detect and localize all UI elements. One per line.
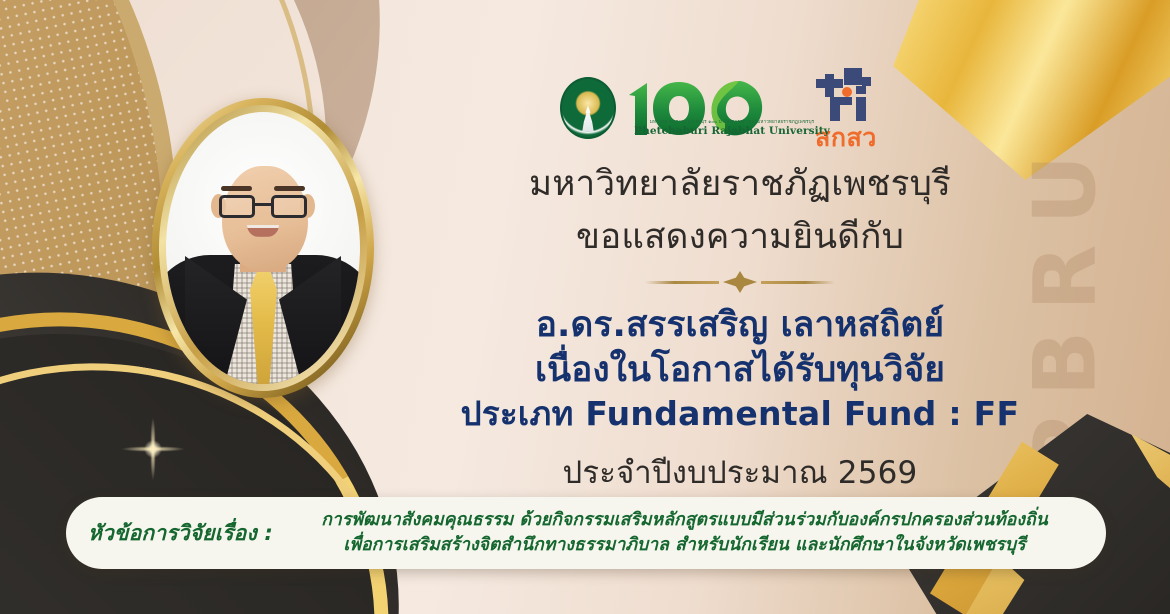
portrait-lens-left xyxy=(219,195,255,218)
research-topic-line-2: เพื่อการเสริมสร้างจิตสำนึกทางธรรมาภิบาล … xyxy=(289,533,1080,558)
research-topic-label: หัวข้อการวิจัยเรื่อง : xyxy=(88,517,273,550)
research-topic-text: การพัฒนาสังคมคุณธรรม ด้วยกิจกรรมเสริมหลั… xyxy=(289,508,1080,558)
sparkle-icon xyxy=(108,404,198,494)
divider-line-right xyxy=(761,281,835,284)
university-caption: มหาวิทยาลัยราชภัฏเพชรบุรี ๑๐๐ ปี แห่งการ… xyxy=(632,120,832,137)
fiscal-year: ประจำปีงบประมาณ 2569 xyxy=(420,447,1060,497)
university-centennial-logo: มหาวิทยาลัยราชภัฏเพชรบุรี ๑๐๐ ปี แห่งการ… xyxy=(560,77,771,139)
message-block: มหาวิทยาลัยราชภัฏเพชรบุรี ขอแสดงความยินด… xyxy=(420,158,1060,497)
university-english-caption: Phetchaburi Rajabhat University xyxy=(632,125,832,137)
tsri-mark-icon xyxy=(813,66,879,124)
portrait-photo xyxy=(166,112,360,384)
portrait-brow-right xyxy=(274,186,305,191)
top-right-gold-ribbon-back xyxy=(930,0,1170,140)
university-heading: มหาวิทยาลัยราชภัฏเพชรบุรี xyxy=(420,158,1060,211)
divider-diamond-icon xyxy=(723,271,757,293)
portrait-brow-left xyxy=(221,186,252,191)
research-topic-line-1: การพัฒนาสังคมคุณธรรม ด้วยกิจกรรมเสริมหลั… xyxy=(289,508,1080,533)
honoree-name: อ.ดร.สรรเสริญ เลาหสถิตย์ xyxy=(420,303,1060,348)
congratulations-banner: PBRU xyxy=(0,0,1170,614)
logo-row: มหาวิทยาลัยราชภัฏเพชรบุรี ๑๐๐ ปี แห่งการ… xyxy=(560,60,920,156)
tsri-logo: สกสว xyxy=(813,66,879,150)
university-seal-icon xyxy=(560,77,616,139)
honoree-portrait xyxy=(152,98,374,398)
research-topic-banner: หัวข้อการวิจัยเรื่อง : การพัฒนาสังคมคุณธ… xyxy=(66,497,1106,569)
portrait-lens-right xyxy=(271,195,307,218)
portrait-glasses xyxy=(219,195,307,219)
top-right-gold-ribbon xyxy=(880,0,1170,180)
fund-type: ประเภท Fundamental Fund : FF xyxy=(420,393,1060,436)
divider-line-left xyxy=(645,281,719,284)
honoree-occasion: เนื่องในโอกาสได้รับทุนวิจัย xyxy=(420,348,1060,393)
portrait-glasses-bridge xyxy=(255,203,271,207)
congratulations-heading: ขอแสดงความยินดีกับ xyxy=(420,211,1060,264)
ornamental-divider xyxy=(645,271,835,293)
